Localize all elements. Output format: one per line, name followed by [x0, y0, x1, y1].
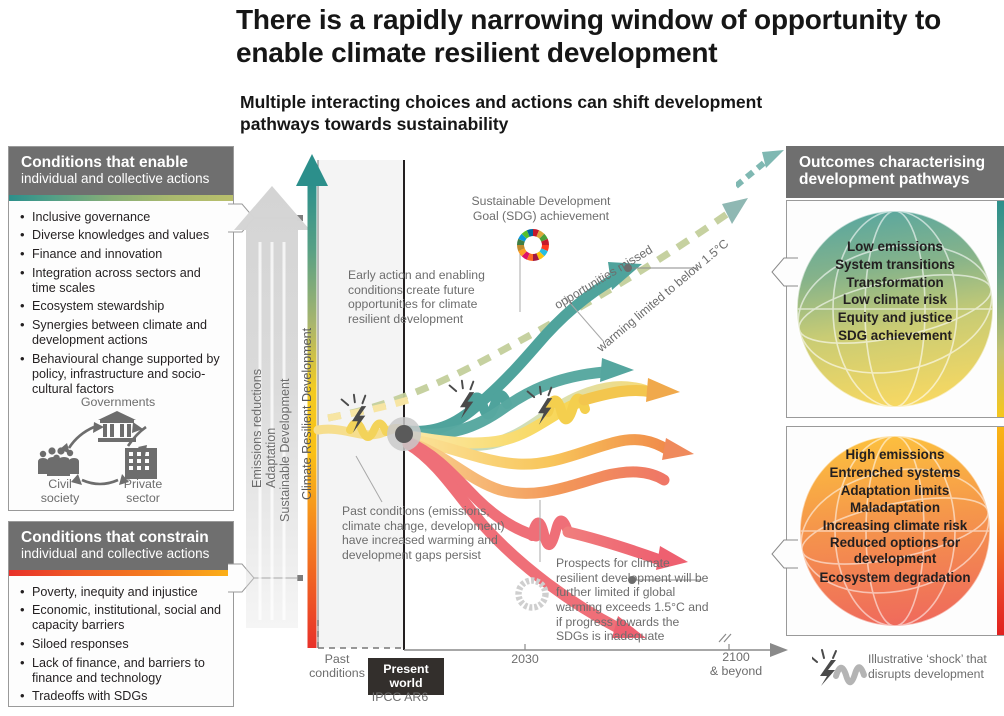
outcomes-title: Outcomes characterising — [799, 154, 993, 171]
legend-line-2: disrupts development — [868, 667, 1004, 682]
panel-enable-header: Conditions that enable individual and co… — [9, 147, 233, 195]
present-world-text: Present world — [383, 662, 428, 690]
good-outcomes-text: Low emissions System transitions Transfo… — [792, 238, 998, 345]
panel-constrain-title: Conditions that constrain — [21, 529, 223, 546]
right-callouts — [758, 240, 798, 600]
panel-enable-body: Inclusive governance Diverse knowledges … — [9, 201, 233, 409]
good-outcome-line: System transitions — [792, 256, 998, 274]
bad-outcome-line: Reduced options for development — [792, 535, 998, 566]
early-action-annotation: Early action and enabling conditions cre… — [348, 268, 496, 327]
opportunities-missed-arrowhead — [722, 198, 748, 224]
governance-diagram: Governments — [12, 396, 222, 508]
page-title: There is a rapidly narrowing window of o… — [236, 4, 996, 70]
panel-constrain-subtitle: individual and collective actions — [21, 546, 223, 561]
outcomes-header-box: Outcomes characterising development path… — [786, 146, 1004, 198]
present-band — [318, 160, 404, 648]
sdg-annotation: Sustainable Development Goal (SDG) achie… — [466, 194, 616, 223]
good-outcome-line: Equity and justice — [792, 309, 998, 327]
x-tick-2100-text: 2100 — [706, 650, 766, 664]
government-building-icon — [98, 411, 136, 442]
bad-outcome-line: Adaptation limits — [792, 482, 998, 500]
outcomes-header: Outcomes characterising development path… — [786, 146, 1004, 198]
bad-outcome-line: Increasing climate risk — [792, 517, 998, 535]
outcomes-subtitle: development pathways — [799, 171, 993, 188]
x-tick-2100-sub-text: & beyond — [706, 664, 766, 678]
prospects-annotation: Prospects for climate resilient developm… — [556, 556, 714, 644]
axis-label-adaptation: Adaptation — [264, 428, 278, 488]
panel-constrain-body: Poverty, inequity and injustice Economic… — [9, 576, 233, 716]
branch-node — [395, 425, 413, 443]
list-item: Inclusive governance — [19, 210, 225, 225]
sdg-wheel-grey-icon — [512, 574, 552, 614]
axis-label-climate-resilient-development: Climate Resilient Development — [300, 328, 314, 500]
sdg-wheel-colour-icon — [514, 226, 552, 264]
good-edge-strip — [997, 201, 1004, 417]
list-item: Economic, institutional, social and capa… — [19, 603, 225, 633]
list-item: Ecosystem stewardship — [19, 299, 225, 314]
bad-outcome-line: High emissions — [792, 446, 998, 464]
list-item: Behavioural change supported by policy, … — [19, 352, 225, 397]
axis-label-sustainable-development: Sustainable Development — [278, 378, 292, 522]
panel-enable-title: Conditions that enable — [21, 154, 223, 171]
private-sector-label: Private sector — [112, 478, 174, 506]
list-item: Integration across sectors and time scal… — [19, 266, 225, 296]
list-item: Tradeoffs with SDGs — [19, 689, 225, 704]
list-item: Lack of finance, and barriers to finance… — [19, 656, 225, 686]
list-item: Poverty, inequity and injustice — [19, 585, 225, 600]
good-outcome-line: Low climate risk — [792, 291, 998, 309]
bad-outcomes-text: High emissions Entrenched systems Adapta… — [792, 446, 998, 585]
good-outcome-line: Transformation — [792, 274, 998, 292]
x-tick-2100: 2100 & beyond — [706, 650, 766, 678]
x-tick-past-conditions: Past conditions — [300, 652, 374, 680]
missed-opportunity-arrow — [736, 150, 796, 190]
list-item: Siloed responses — [19, 637, 225, 652]
ipcc-ar6-label: IPCC AR6 — [364, 690, 436, 704]
x-tick-2030: 2030 — [500, 652, 550, 666]
conditions-that-constrain-panel: Conditions that constrain individual and… — [8, 521, 234, 707]
civil-society-icon — [38, 447, 79, 476]
enable-list: Inclusive governance Diverse knowledges … — [19, 210, 225, 397]
page-subtitle: Multiple interacting choices and actions… — [240, 92, 800, 136]
x-tick-past-conditions-text: Past conditions — [309, 652, 365, 680]
shock-icon — [812, 648, 872, 686]
past-conditions-annotation: Past conditions (emissions, climate chan… — [342, 504, 522, 563]
bad-edge-strip — [997, 427, 1004, 635]
panel-constrain-header: Conditions that constrain individual and… — [9, 522, 233, 570]
list-item: Synergies between climate and developmen… — [19, 318, 225, 348]
panel-enable-subtitle: individual and collective actions — [21, 171, 223, 186]
constrain-list: Poverty, inequity and injustice Economic… — [19, 585, 225, 705]
bad-outcome-line: Maladaptation — [792, 499, 998, 517]
civil-society-label: Civil society — [28, 478, 92, 506]
grey-progress-arrow — [234, 186, 310, 628]
good-outcome-line: SDG achievement — [792, 327, 998, 345]
legend-line-1: Illustrative ‘shock’ that — [868, 652, 1004, 667]
good-outcome-line: Low emissions — [792, 238, 998, 256]
list-item: Diverse knowledges and values — [19, 228, 225, 243]
bad-outcome-line: Ecosystem degradation — [792, 570, 998, 585]
list-item: Finance and innovation — [19, 247, 225, 262]
bad-outcome-line: Entrenched systems — [792, 464, 998, 482]
axis-label-emissions-reductions: Emissions reductions — [250, 369, 264, 488]
